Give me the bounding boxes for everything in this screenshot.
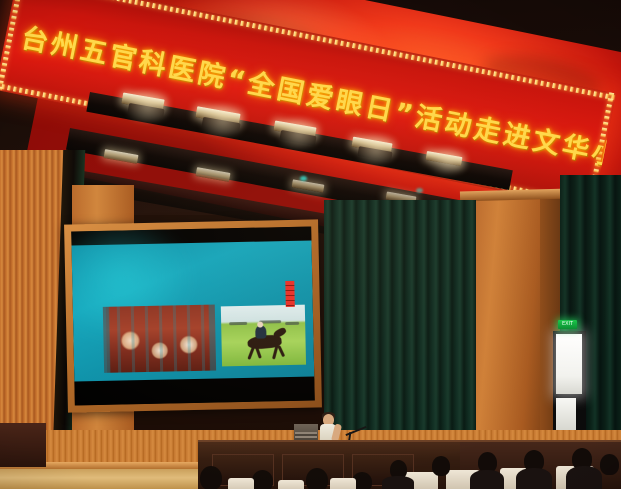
audience-shoulders: [566, 466, 602, 489]
auditorium-scene: 台州五官科医院“全国爱眼日”活动走进文华小学 EXIT: [0, 0, 621, 489]
audience-seat: [228, 478, 254, 489]
audience-seat: [330, 478, 356, 489]
audience-shoulders: [470, 470, 504, 489]
audience-head: [252, 470, 273, 489]
audience-head: [200, 466, 222, 489]
side-desk-left: [0, 423, 46, 467]
slide-accent-bar: [285, 281, 295, 307]
exit-sign: EXIT: [558, 320, 577, 329]
curtain-center: [324, 200, 476, 458]
doorway-glass-upper: [556, 334, 582, 394]
screen-letterbox-bottom: [74, 376, 314, 405]
audience-seat: [278, 480, 304, 489]
projection-screen: [64, 219, 322, 412]
audience-head: [600, 454, 619, 475]
exit-sign-label: EXIT: [562, 322, 573, 327]
ceiling-indicator-light-2: [416, 188, 423, 193]
audience-shoulders: [382, 476, 414, 489]
wall-right: [470, 196, 545, 446]
slide-photo-horse: [221, 305, 306, 367]
audience-head: [432, 456, 450, 476]
audience-shoulders: [516, 468, 552, 489]
audience-head: [306, 468, 328, 489]
presentation-slide: [71, 241, 314, 384]
ceiling-indicator-light: [300, 176, 307, 181]
slide-photo-people: [103, 305, 216, 373]
